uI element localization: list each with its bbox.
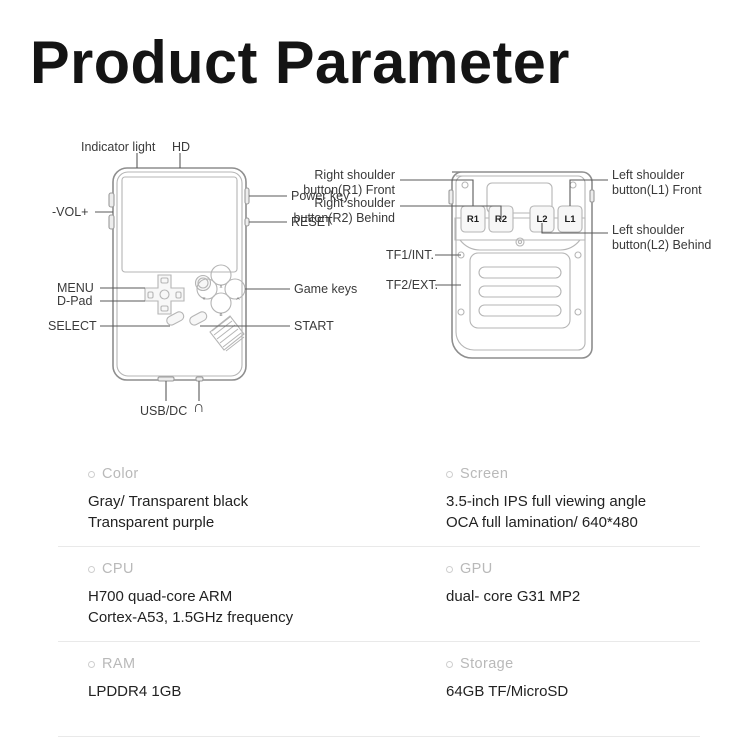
label-r1-line1: Right shoulder bbox=[210, 168, 395, 183]
spec-value-line: LPDDR4 1GB bbox=[88, 681, 400, 702]
spec-key-label: RAM bbox=[102, 656, 135, 672]
spec-cell-gpu: GPU dual- core G31 MP2 bbox=[400, 547, 750, 642]
spec-cell-storage: Storage 64GB TF/MicroSD bbox=[400, 642, 750, 737]
label-start: START bbox=[294, 319, 334, 334]
label-volume: -VOL+ bbox=[52, 205, 88, 220]
label-l1-line1: Left shoulder bbox=[612, 168, 747, 183]
label-l2-group: Left shoulder button(L2) Behind bbox=[612, 223, 747, 253]
bullet-icon bbox=[446, 661, 453, 668]
bullet-icon bbox=[446, 566, 453, 573]
spec-value-line: dual- core G31 MP2 bbox=[446, 586, 750, 607]
spec-key: RAM bbox=[88, 656, 400, 672]
label-hd: HD bbox=[172, 140, 190, 155]
spec-key: Screen bbox=[446, 466, 750, 482]
spec-cell-screen: Screen 3.5-inch IPS full viewing angle O… bbox=[400, 452, 750, 547]
spec-key-label: Color bbox=[102, 466, 139, 482]
spec-value: 64GB TF/MicroSD bbox=[446, 681, 750, 702]
spec-value: Gray/ Transparent black Transparent purp… bbox=[88, 491, 400, 533]
label-r1-group: Right shoulder button(R1) Front bbox=[210, 168, 395, 198]
row-divider bbox=[58, 736, 700, 737]
label-r2-group: Right shoulder button(R2) Behind bbox=[200, 196, 395, 226]
spec-row: CPU H700 quad-core ARM Cortex-A53, 1.5GH… bbox=[0, 547, 750, 642]
spec-value-line: 3.5-inch IPS full viewing angle bbox=[446, 491, 750, 512]
bullet-icon bbox=[446, 471, 453, 478]
spec-key-label: GPU bbox=[460, 561, 493, 577]
label-l1-group: Left shoulder button(L1) Front bbox=[612, 168, 747, 198]
spec-key: Color bbox=[88, 466, 400, 482]
page-title: Product Parameter bbox=[30, 28, 733, 98]
spec-value: LPDDR4 1GB bbox=[88, 681, 400, 702]
bullet-icon bbox=[88, 661, 95, 668]
spec-value-line: H700 quad-core ARM bbox=[88, 586, 400, 607]
label-r2-line2: button(R2) Behind bbox=[200, 211, 395, 226]
label-l2-line1: Left shoulder bbox=[612, 223, 747, 238]
svg-text:R1: R1 bbox=[467, 214, 480, 225]
spec-cell-color: Color Gray/ Transparent black Transparen… bbox=[0, 452, 400, 547]
spec-key-label: Screen bbox=[460, 466, 508, 482]
label-l2-line2: button(L2) Behind bbox=[612, 238, 747, 253]
spec-row: Color Gray/ Transparent black Transparen… bbox=[0, 452, 750, 547]
label-tf1: TF1/INT. bbox=[386, 248, 434, 263]
spec-value-line: Gray/ Transparent black bbox=[88, 491, 400, 512]
bullet-icon bbox=[88, 471, 95, 478]
spec-value: dual- core G31 MP2 bbox=[446, 586, 750, 607]
spec-key-label: CPU bbox=[102, 561, 134, 577]
spec-row: RAM LPDDR4 1GB Storage 64GB TF/MicroSD bbox=[0, 642, 750, 737]
product-diagram: .ln { stroke:#5a5a5a; stroke-width:1.1; … bbox=[0, 120, 750, 440]
svg-text:Y: Y bbox=[202, 296, 205, 301]
spec-cell-cpu: CPU H700 quad-core ARM Cortex-A53, 1.5GH… bbox=[0, 547, 400, 642]
spec-value-line: 64GB TF/MicroSD bbox=[446, 681, 750, 702]
spec-key: CPU bbox=[88, 561, 400, 577]
label-select: SELECT bbox=[48, 319, 97, 334]
label-d-pad: D-Pad bbox=[57, 294, 92, 309]
svg-text:B: B bbox=[219, 312, 222, 317]
spec-key: GPU bbox=[446, 561, 750, 577]
spec-table: Color Gray/ Transparent black Transparen… bbox=[0, 452, 750, 737]
spec-key-label: Storage bbox=[460, 656, 514, 672]
label-indicator-light: Indicator light bbox=[81, 140, 155, 155]
spec-cell-ram: RAM LPDDR4 1GB bbox=[0, 642, 400, 737]
label-usb-dc: USB/DC bbox=[140, 404, 187, 419]
spec-value-line: Transparent purple bbox=[88, 512, 400, 533]
label-r2-line1: Right shoulder bbox=[200, 196, 395, 211]
spec-key: Storage bbox=[446, 656, 750, 672]
bullet-icon bbox=[88, 566, 95, 573]
svg-text:A: A bbox=[236, 296, 239, 301]
label-game-keys: Game keys bbox=[294, 282, 357, 297]
spec-value: H700 quad-core ARM Cortex-A53, 1.5GHz fr… bbox=[88, 586, 400, 628]
back-view: R1 R2 L2 L1 bbox=[400, 172, 608, 358]
svg-text:X: X bbox=[219, 284, 222, 289]
spec-value-line: OCA full lamination/ 640*480 bbox=[446, 512, 750, 533]
label-l1-line2: button(L1) Front bbox=[612, 183, 747, 198]
svg-text:L1: L1 bbox=[564, 214, 576, 225]
spec-value: 3.5-inch IPS full viewing angle OCA full… bbox=[446, 491, 750, 533]
spec-value-line: Cortex-A53, 1.5GHz frequency bbox=[88, 607, 400, 628]
label-tf2: TF2/EXT. bbox=[386, 278, 438, 293]
headphone-icon: ∩ bbox=[193, 401, 205, 416]
